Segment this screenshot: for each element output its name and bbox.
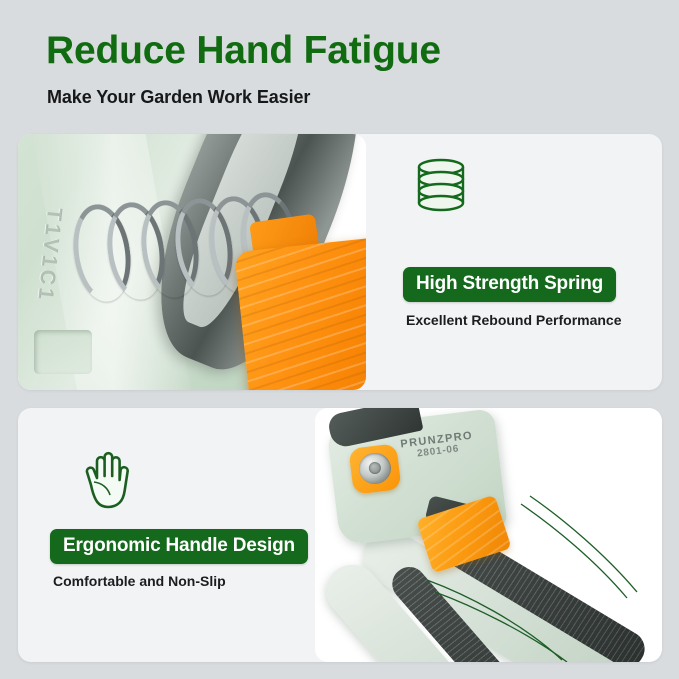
pivot-collar-shape [348, 443, 401, 495]
tool-notch-shape [34, 330, 92, 374]
open-hand-icon [78, 448, 134, 515]
page-header: Reduce Hand Fatigue Make Your Garden Wor… [0, 0, 679, 130]
page-subtitle: Make Your Garden Work Easier [47, 87, 310, 108]
coil-spring-icon [414, 157, 468, 224]
pivot-bolt-shape [368, 461, 381, 474]
badge-high-strength-spring: High Strength Spring [403, 267, 616, 302]
feature-panel-handle: Ergonomic Handle Design Comfortable and … [18, 408, 662, 662]
pruner-handle-photo: PRUNZPRO 2801-06 [315, 408, 662, 662]
feature-panel-spring: T1V1C1 [18, 134, 662, 390]
caption-spring: Excellent Rebound Performance [406, 312, 622, 328]
caption-handle: Comfortable and Non-Slip [53, 573, 226, 589]
spring-info-column: High Strength Spring Excellent Rebound P… [401, 134, 662, 390]
handle-info-column: Ergonomic Handle Design Comfortable and … [36, 408, 316, 662]
spring-closeup-photo: T1V1C1 [18, 134, 366, 390]
page-title: Reduce Hand Fatigue [46, 31, 441, 70]
orange-lock-pad-shape [234, 237, 366, 390]
badge-ergonomic-handle-design: Ergonomic Handle Design [50, 529, 308, 564]
pivot-washer-shape [357, 451, 393, 486]
